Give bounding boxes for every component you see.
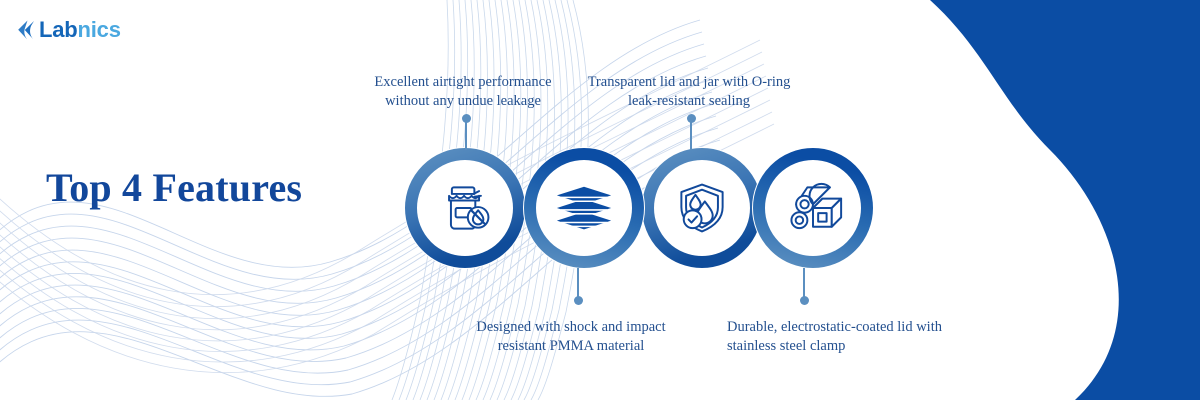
steel-profiles-stack-icon bbox=[752, 147, 874, 269]
feature-circle-2[interactable] bbox=[523, 147, 645, 269]
waterproof-shield-check-icon bbox=[641, 147, 763, 269]
layered-material-stack-icon bbox=[523, 147, 645, 269]
logo-text-primary: Lab bbox=[39, 17, 78, 42]
sealed-jar-no-leak-icon bbox=[404, 147, 526, 269]
feature-circle-3[interactable] bbox=[641, 147, 763, 269]
feature-caption-1: Excellent airtight performance without a… bbox=[363, 73, 563, 111]
feature-caption-4: Durable, electrostatic-coated lid with s… bbox=[727, 318, 949, 356]
brand-logo[interactable]: Labnics bbox=[14, 16, 121, 44]
logo-text-secondary: nics bbox=[78, 17, 121, 42]
page-title: Top 4 Features bbox=[46, 168, 302, 208]
feature-caption-3: Transparent lid and jar with O-ring leak… bbox=[586, 73, 792, 111]
feature-caption-2: Designed with shock and impact resistant… bbox=[462, 318, 680, 356]
feature-circle-1[interactable] bbox=[404, 147, 526, 269]
feature-circle-4[interactable] bbox=[752, 147, 874, 269]
infographic-banner: Labnics Top 4 Features Excellent airtigh… bbox=[0, 0, 1200, 400]
chevron-mark-icon bbox=[14, 18, 38, 42]
